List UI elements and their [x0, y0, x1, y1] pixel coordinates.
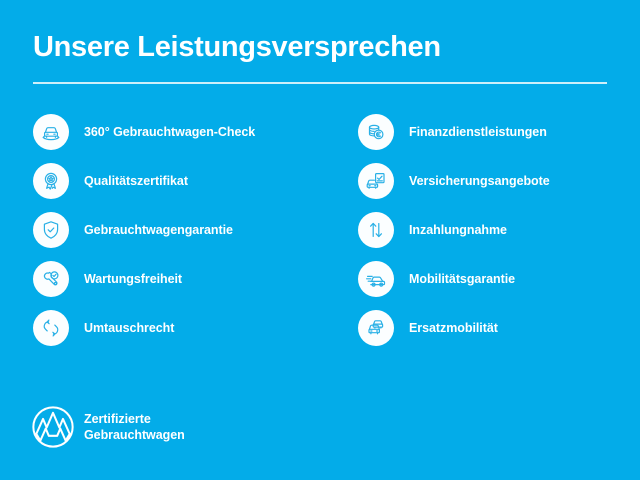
features-grid: 360° Gebrauchtwagen-Check Qualitätszerti… — [0, 107, 640, 352]
feature-label: Inzahlungnahme — [409, 223, 507, 237]
vw-logo-icon — [30, 404, 76, 450]
feature-label: Mobilitätsgarantie — [409, 272, 515, 286]
page-title: Unsere Leistungsversprechen — [33, 30, 607, 64]
promo-poster: Unsere Leistungsversprechen 360° Gebrauc — [0, 0, 640, 480]
arrows-up-down-icon — [358, 212, 394, 248]
feature-label: Versicherungsangebote — [409, 174, 550, 188]
two-cars-icon — [358, 310, 394, 346]
feature-item-trade-in: Inzahlungnahme — [358, 205, 628, 254]
feature-label: Gebrauchtwagengarantie — [84, 223, 233, 237]
feature-label: Ersatzmobilität — [409, 321, 498, 335]
feature-label: Finanzdienstleistungen — [409, 125, 547, 139]
feature-item-warranty: Gebrauchtwagengarantie — [33, 205, 333, 254]
feature-item-right-of-exchange: Umtauschrecht — [33, 303, 333, 352]
coins-euro-icon — [358, 114, 394, 150]
car-speed-icon — [358, 261, 394, 297]
brand-lockup: Zertifizierte Gebrauchtwagen — [30, 404, 185, 450]
feature-item-maintenance-free: Wartungsfreiheit — [33, 254, 333, 303]
car-360-check-icon — [33, 114, 69, 150]
feature-label: Qualitätszertifikat — [84, 174, 188, 188]
header: Unsere Leistungsversprechen — [33, 30, 607, 84]
feature-item-360-check: 360° Gebrauchtwagen-Check — [33, 107, 333, 156]
shield-check-icon — [33, 212, 69, 248]
exchange-arrows-icon — [33, 310, 69, 346]
car-document-check-icon — [358, 163, 394, 199]
feature-item-financial-services: Finanzdienstleistungen — [358, 107, 628, 156]
features-column-left: 360° Gebrauchtwagen-Check Qualitätszerti… — [33, 107, 333, 352]
feature-label: 360° Gebrauchtwagen-Check — [84, 125, 255, 139]
feature-label: Umtauschrecht — [84, 321, 174, 335]
feature-item-insurance-offers: Versicherungsangebote — [358, 156, 628, 205]
feature-label: Wartungsfreiheit — [84, 272, 182, 286]
brand-text-line-1: Zertifizierte — [84, 411, 185, 427]
features-column-right: Finanzdienstleistungen Versicherungsange… — [358, 107, 628, 352]
quality-rosette-icon — [33, 163, 69, 199]
feature-item-mobility-guarantee: Mobilitätsgarantie — [358, 254, 628, 303]
feature-item-quality-certificate: Qualitätszertifikat — [33, 156, 333, 205]
feature-item-replacement-mobility: Ersatzmobilität — [358, 303, 628, 352]
title-divider — [33, 82, 607, 84]
wrench-check-icon — [33, 261, 69, 297]
brand-text: Zertifizierte Gebrauchtwagen — [84, 411, 185, 443]
brand-text-line-2: Gebrauchtwagen — [84, 427, 185, 443]
